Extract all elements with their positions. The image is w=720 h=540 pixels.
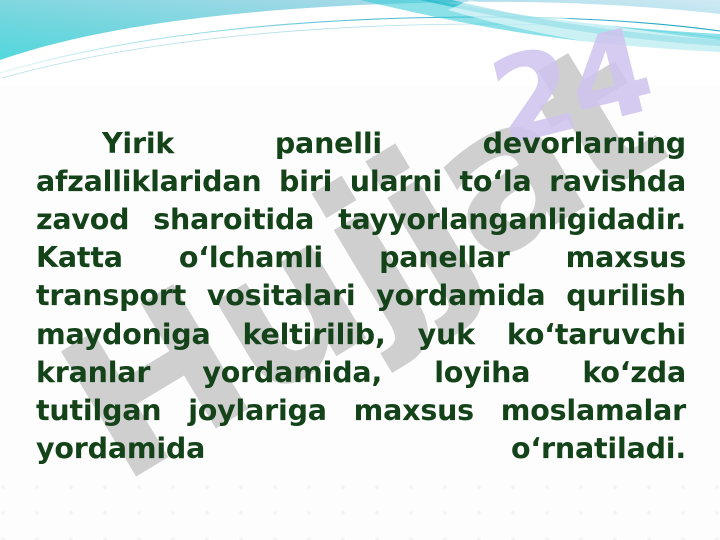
slide-body-text: Yirik panelli devorlarning afzalliklarid… [36,125,686,507]
presentation-slide: Hujjat 24 Yirik panelli devorlarning afz… [0,0,720,540]
header-wave-decoration [0,0,720,86]
wave-graphic [0,0,720,86]
